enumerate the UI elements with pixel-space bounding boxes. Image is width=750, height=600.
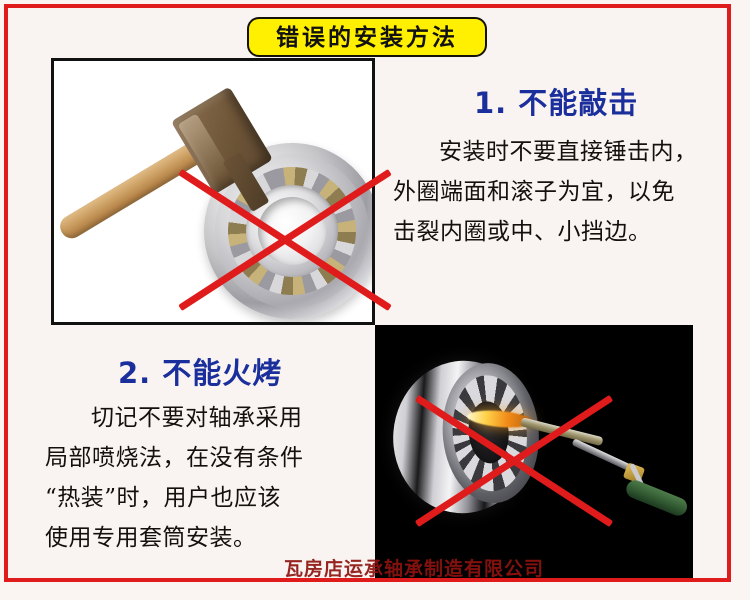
hammer-and-bearing-photo xyxy=(51,58,375,325)
section-1-body: 安装时不要直接锤击内， 外圈端面和滚子为宜，以免 击裂内圈或中、小挡边。 xyxy=(393,132,738,252)
section-2-line-4: 使用专用套筒安装。 xyxy=(45,518,375,558)
section-1-line-1: 安装时不要直接锤击内， xyxy=(393,132,738,172)
torch-grip-icon xyxy=(624,478,690,519)
company-watermark: 瓦房店运承轴承制造有限公司 xyxy=(284,554,544,581)
section-2-line-3: “热装”时，用户也应该 xyxy=(45,478,375,518)
section-1-line-3: 击裂内圈或中、小挡边。 xyxy=(393,212,738,252)
section-1-heading: 1. 不能敲击 xyxy=(474,80,638,122)
torch-tube-lower-icon xyxy=(572,438,635,472)
section-1-line-2: 外圈端面和滚子为宜，以免 xyxy=(393,172,738,212)
section-2-line-1: 切记不要对轴承采用 xyxy=(45,398,375,438)
title-banner: 错误的安装方法 xyxy=(247,17,487,57)
section-2-heading: 2. 不能火烤 xyxy=(118,350,282,392)
title-banner-text: 错误的安装方法 xyxy=(276,26,458,49)
torch-bearing-icon xyxy=(386,352,541,523)
section-2-line-2: 局部喷烧法，在没有条件 xyxy=(45,438,375,478)
blowtorch-and-bearing-photo xyxy=(375,325,693,578)
photo-stage xyxy=(54,61,372,322)
section-2-body: 切记不要对轴承采用 局部喷烧法，在没有条件 “热装”时，用户也应该 使用专用套筒… xyxy=(45,398,375,558)
poster-page: 错误的安装方法 1. 不能敲击 安装时不要直接锤击内， 外圈端面和滚子为宜，以免… xyxy=(0,0,750,600)
